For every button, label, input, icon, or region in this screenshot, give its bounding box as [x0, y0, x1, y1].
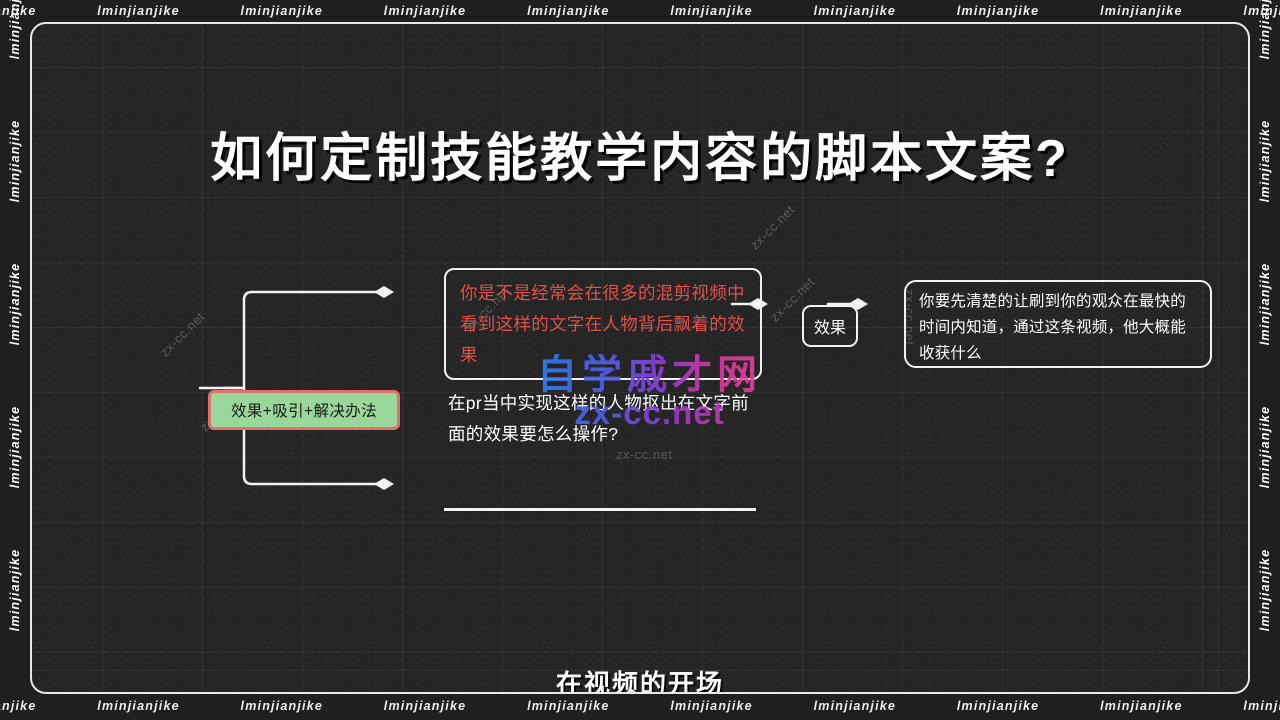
watermark-label: lminjianjike: [527, 699, 609, 713]
watermark-label: lminjianjike: [814, 699, 896, 713]
watermark-label: lminjianjike: [1100, 4, 1182, 18]
node-audience-value[interactable]: 你要先清楚的让刷到你的观众在最快的时间内知道，通过这条视频，他大概能收获什么: [904, 280, 1212, 368]
watermark-label: lminjianjike: [241, 4, 323, 18]
watermark-band-right: lminjianjikelminjianjikelminjianjikelmin…: [1252, 0, 1278, 720]
node-problem-question[interactable]: 在pr当中实现这样的人物抠出在文字前面的效果要怎么操作?: [444, 388, 762, 450]
watermark-label: lminjianjike: [8, 406, 22, 488]
watermark-label: lminjianjike: [1258, 0, 1272, 59]
watermark-label: lminjianjike: [957, 4, 1039, 18]
node-hook-question-text: 你是不是经常会在很多的混剪视频中看到这样的文字在人物背后飘着的效果: [460, 283, 745, 365]
watermark-label: lminjianjike: [8, 0, 22, 59]
site-watermark-diagonal: zx-cc.net: [157, 309, 208, 360]
watermark-label: lminjianjike: [527, 4, 609, 18]
watermark-label: lminjianjike: [957, 699, 1039, 713]
watermark-label: lminjianjike: [1243, 4, 1280, 18]
watermark-label: lminjianjike: [1100, 699, 1182, 713]
watermark-label: lminjianjike: [670, 4, 752, 18]
node-problem-question-text: 在pr当中实现这样的人物抠出在文字前面的效果要怎么操作?: [448, 393, 749, 444]
watermark-label: lminjianjike: [670, 699, 752, 713]
watermark-label: lminjianjike: [1258, 406, 1272, 488]
watermark-label: lminjianjike: [97, 4, 179, 18]
watermark-label: lminjianjike: [1243, 699, 1280, 713]
node-problem-underline: [444, 508, 756, 511]
watermark-label: lminjianjike: [241, 699, 323, 713]
slide-canvas-root: lminjianjikelminjianjikelminjianjikelmin…: [0, 0, 1280, 720]
watermark-label: lminjianjike: [384, 4, 466, 18]
watermark-label: lminjianjike: [8, 549, 22, 631]
watermark-band-top: lminjianjikelminjianjikelminjianjikelmin…: [0, 4, 1280, 18]
node-effect-label: 效果: [814, 314, 846, 338]
node-audience-value-text: 你要先清楚的让刷到你的观众在最快的时间内知道，通过这条视频，他大概能收获什么: [919, 293, 1186, 362]
node-effect[interactable]: 效果: [802, 305, 858, 347]
watermark-label: lminjianjike: [1258, 549, 1272, 631]
watermark-label: lminjianjike: [0, 699, 36, 713]
node-root[interactable]: 效果+吸引+解决办法: [208, 390, 400, 430]
site-watermark-diagonal: zx-cc.net: [747, 202, 798, 253]
watermark-label: lminjianjike: [384, 699, 466, 713]
watermark-label: lminjianjike: [1258, 120, 1272, 202]
watermark-band-bottom: lminjianjikelminjianjikelminjianjikelmin…: [0, 699, 1280, 713]
watermark-label: lminjianjike: [8, 120, 22, 202]
node-hook-question[interactable]: 你是不是经常会在很多的混剪视频中看到这样的文字在人物背后飘着的效果: [444, 268, 762, 380]
node-root-label: 效果+吸引+解决办法: [231, 399, 377, 421]
footer-note: 在视频的开场: [32, 664, 1248, 694]
watermark-label: lminjianjike: [1258, 263, 1272, 345]
watermark-label: lminjianjike: [97, 699, 179, 713]
watermark-label: lminjianjike: [0, 4, 36, 18]
mindmap-canvas[interactable]: zx-cc.net zx-cc.net zx-cc.net zx-cc.net …: [30, 22, 1250, 694]
watermark-band-left: lminjianjikelminjianjikelminjianjikelmin…: [2, 0, 28, 720]
watermark-label: lminjianjike: [814, 4, 896, 18]
watermark-label: lminjianjike: [8, 263, 22, 345]
page-title: 如何定制技能教学内容的脚本文案?: [32, 116, 1248, 191]
